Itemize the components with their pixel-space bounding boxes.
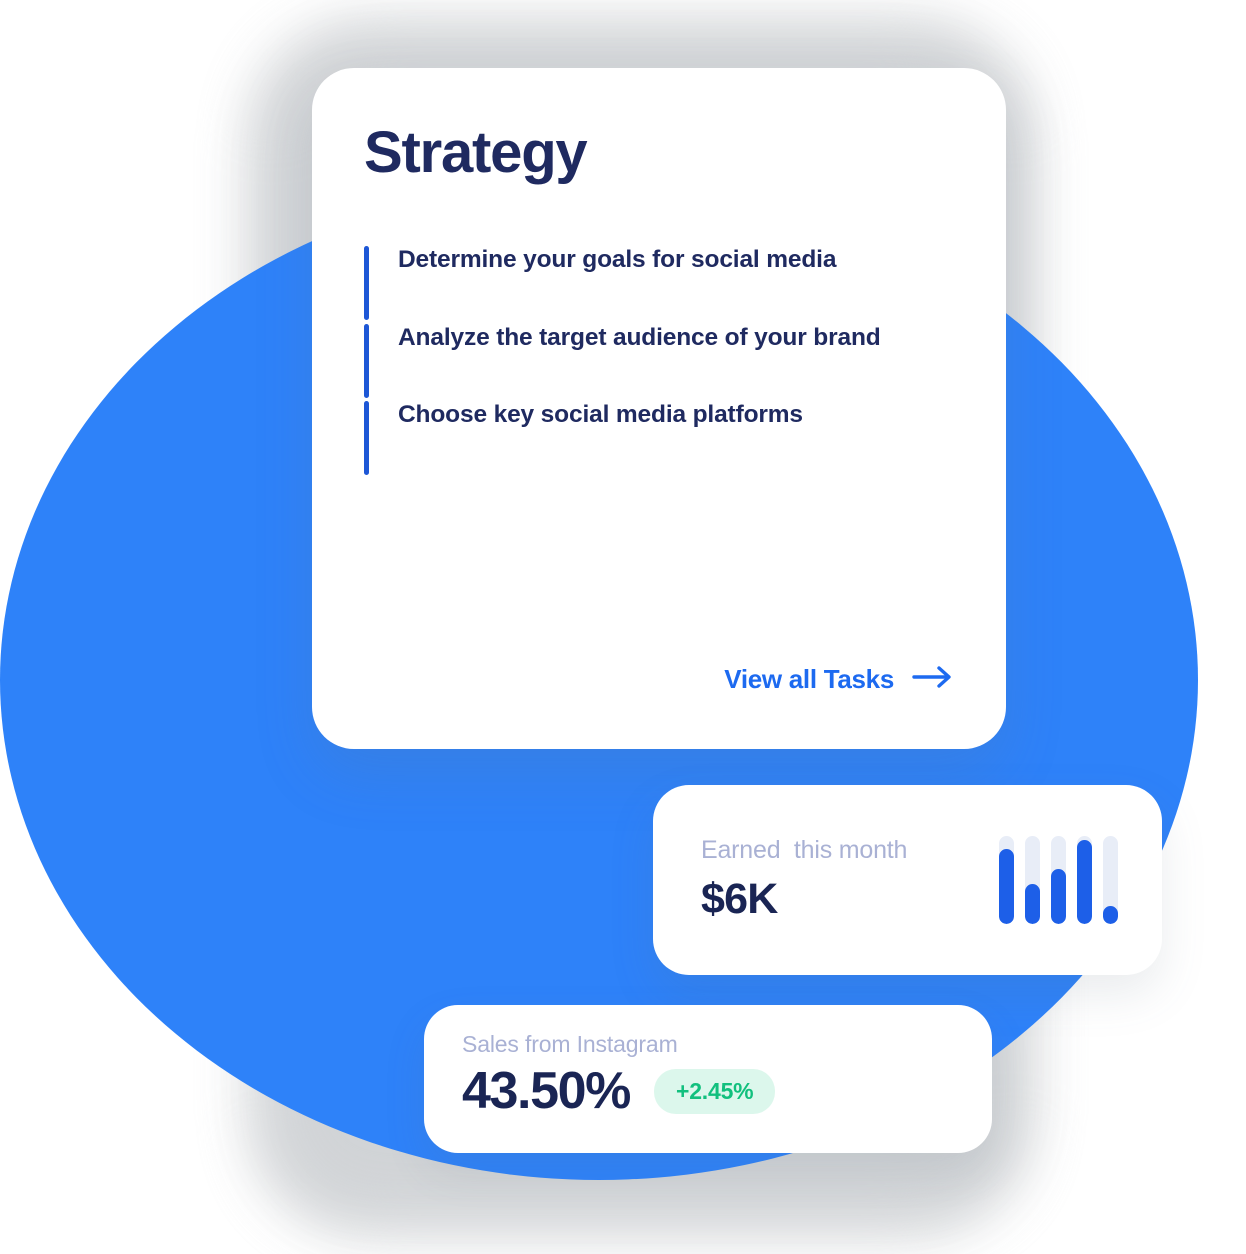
earned-this-month-card: Earned this month $6K	[653, 785, 1162, 975]
bar-track	[1077, 836, 1092, 924]
bar-fill	[1077, 840, 1092, 924]
bar-fill	[1025, 884, 1040, 924]
sales-label: Sales from Instagram	[462, 1031, 992, 1058]
bar-track	[1051, 836, 1066, 924]
bar-track	[999, 836, 1014, 924]
sales-from-instagram-card: Sales from Instagram 43.50% +2.45%	[424, 1005, 992, 1153]
list-item-label: Analyze the target audience of your bran…	[398, 324, 881, 351]
promo-illustration: Strategy Determine your goals for social…	[0, 0, 1246, 1254]
list-item-label: Determine your goals for social media	[398, 246, 836, 273]
earned-text-block: Earned this month $6K	[701, 836, 999, 924]
bar-fill	[1103, 906, 1118, 924]
sales-value: 43.50%	[462, 1064, 630, 1119]
task-list: Determine your goals for social media An…	[364, 240, 960, 435]
list-item[interactable]: Analyze the target audience of your bran…	[364, 318, 924, 358]
sales-value-row: 43.50% +2.45%	[462, 1064, 992, 1119]
strategy-card: Strategy Determine your goals for social…	[312, 68, 1006, 749]
earned-value: $6K	[701, 875, 999, 924]
accent-bar-icon	[364, 401, 369, 475]
earned-bar-chart	[999, 836, 1118, 924]
earned-label: Earned this month	[701, 836, 999, 865]
bar-track	[1025, 836, 1040, 924]
list-item[interactable]: Choose key social media platforms	[364, 395, 924, 435]
list-item-label: Choose key social media platforms	[398, 401, 803, 428]
view-all-tasks-label: View all Tasks	[724, 664, 894, 695]
accent-bar-icon	[364, 246, 369, 320]
bar-track	[1103, 836, 1118, 924]
page-title: Strategy	[364, 124, 960, 182]
view-all-tasks-link[interactable]: View all Tasks	[724, 664, 954, 695]
status-badge: +2.45%	[654, 1069, 775, 1114]
arrow-right-icon	[912, 665, 954, 694]
list-item[interactable]: Determine your goals for social media	[364, 240, 924, 280]
bar-fill	[1051, 869, 1066, 924]
bar-fill	[999, 849, 1014, 924]
accent-bar-icon	[364, 324, 369, 398]
